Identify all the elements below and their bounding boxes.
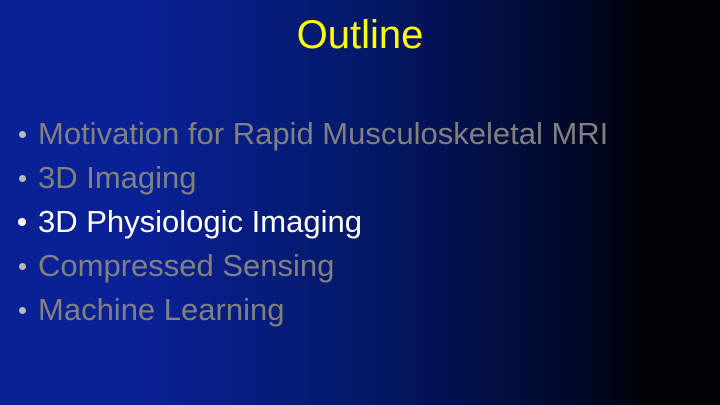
list-item[interactable]: Machine Learning: [14, 288, 714, 332]
bullet-dot-icon: [19, 307, 26, 314]
list-item[interactable]: Motivation for Rapid Musculoskeletal MRI: [14, 112, 714, 156]
bullet-dot-icon: [19, 131, 26, 138]
bullet-dot-icon: [19, 175, 26, 182]
list-item[interactable]: Compressed Sensing: [14, 244, 714, 288]
page-title: Outline: [0, 13, 720, 57]
list-item[interactable]: 3D Imaging: [14, 156, 714, 200]
list-item-label: Machine Learning: [38, 288, 284, 332]
list-item-label: Compressed Sensing: [38, 244, 334, 288]
bullet-dot-icon: [18, 218, 26, 226]
list-item-label: Motivation for Rapid Musculoskeletal MRI: [38, 112, 608, 156]
outline-bullet-list: Motivation for Rapid Musculoskeletal MRI…: [14, 112, 714, 332]
presentation-slide: Outline Motivation for Rapid Musculoskel…: [0, 0, 720, 405]
list-item-active[interactable]: 3D Physiologic Imaging: [14, 200, 714, 244]
list-item-label: 3D Imaging: [38, 156, 197, 200]
bullet-dot-icon: [19, 263, 26, 270]
list-item-label: 3D Physiologic Imaging: [38, 200, 362, 244]
